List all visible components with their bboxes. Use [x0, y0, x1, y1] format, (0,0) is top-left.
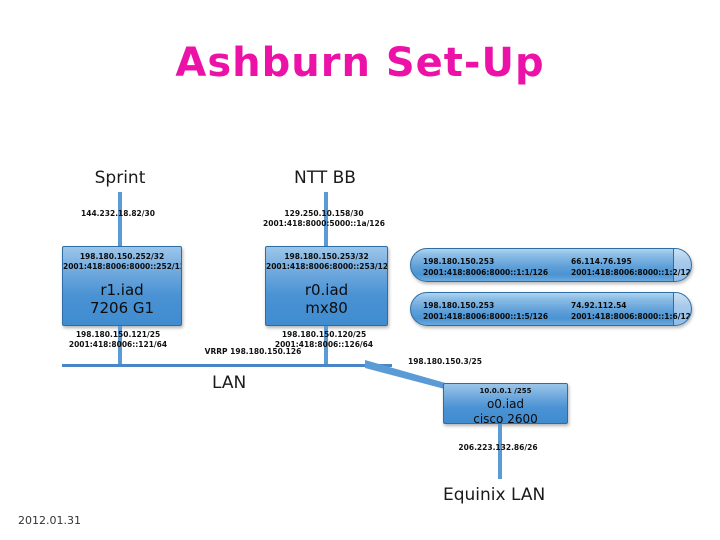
- router-model-r1: 7206 G1: [63, 300, 181, 318]
- link-label-r1-lan-v4: 198.180.150.121/25: [50, 330, 186, 340]
- peering-2-local-v6: 2001:418:8006:8000::1:5/126: [423, 311, 548, 322]
- router-node-r1-iad[interactable]: 198.180.150.252/32 2001:418:8006:8000::2…: [62, 246, 182, 326]
- switch-node-o0-iad[interactable]: 10.0.0.1 /255 o0.iad cisco 2600: [443, 383, 568, 424]
- area-label-equinix-lan: Equinix LAN: [443, 485, 545, 505]
- lan-backbone-line: [62, 364, 392, 367]
- router-loopback-v4-r0: 198.180.150.253/32: [266, 247, 387, 262]
- area-label-lan: LAN: [212, 373, 246, 393]
- link-label-ntt-ipv4: 129.250.10.158/30: [256, 209, 392, 219]
- peering-2-remote-v4: 74.92.112.54: [571, 300, 692, 311]
- link-label-switch-uplink: 198.180.150.3/25: [408, 357, 528, 367]
- switch-model: cisco 2600: [444, 412, 567, 424]
- peering-2-local: 198.180.150.253 2001:418:8006:8000::1:5/…: [423, 300, 548, 323]
- provider-label-ntt-bb: NTT BB: [275, 168, 375, 188]
- peering-2-local-v4: 198.180.150.253: [423, 300, 548, 311]
- peering-1-local: 198.180.150.253 2001:418:8006:8000::1:1/…: [423, 256, 548, 279]
- switch-mgmt-ip: 10.0.0.1 /255: [444, 384, 567, 396]
- router-model-r0: mx80: [266, 300, 387, 318]
- router-node-r0-iad[interactable]: 198.180.150.253/32 2001:418:8006:8000::2…: [265, 246, 388, 326]
- router-loopback-v4-r1: 198.180.150.252/32: [63, 247, 181, 262]
- router-loopback-v6-r1: 2001:418:8006:8000::252/128: [63, 262, 181, 272]
- router-hostname-r0: r0.iad: [266, 282, 387, 300]
- peering-cylinder-2[interactable]: 198.180.150.253 2001:418:8006:8000::1:5/…: [410, 292, 692, 326]
- link-label-r1-lan-v6: 2001:418:8006::121/64: [50, 340, 186, 350]
- link-label-vrrp: VRRP 198.180.150.126: [178, 347, 328, 357]
- peering-1-local-v6: 2001:418:8006:8000::1:1/126: [423, 267, 548, 278]
- page-title: Ashburn Set-Up: [0, 40, 720, 86]
- router-loopback-v6-r0: 2001:418:8006:8000::253/128: [266, 262, 387, 272]
- switch-hostname: o0.iad: [444, 397, 567, 411]
- link-label-sprint-ipv4: 144.232.18.82/30: [50, 209, 186, 219]
- footer-date: 2012.01.31: [18, 514, 81, 527]
- link-label-ntt-ipv6: 2001:418:8000:5000::1a/126: [256, 219, 392, 229]
- peering-1-local-v4: 198.180.150.253: [423, 256, 548, 267]
- provider-label-sprint: Sprint: [70, 168, 170, 188]
- router-hostname-r1: r1.iad: [63, 282, 181, 300]
- slide-canvas: Ashburn Set-Up Sprint NTT BB 144.232.18.…: [0, 0, 720, 540]
- peering-2-remote-v6: 2001:418:8006:8000::1:6/126: [571, 311, 692, 322]
- peering-cylinder-1[interactable]: 198.180.150.253 2001:418:8006:8000::1:1/…: [410, 248, 692, 282]
- peering-1-remote-v6: 2001:418:8006:8000::1:2/126: [571, 267, 692, 278]
- link-label-r0-lan-v4: 198.180.150.120/25: [256, 330, 392, 340]
- peering-2-remote: 74.92.112.54 2001:418:8006:8000::1:6/126: [571, 300, 692, 323]
- connector-sprint-to-r1: [118, 192, 122, 247]
- peering-1-remote: 66.114.76.195 2001:418:8006:8000::1:2/12…: [571, 256, 692, 279]
- peering-1-remote-v4: 66.114.76.195: [571, 256, 692, 267]
- link-label-equinix-downlink: 206.223.132.86/26: [430, 443, 566, 453]
